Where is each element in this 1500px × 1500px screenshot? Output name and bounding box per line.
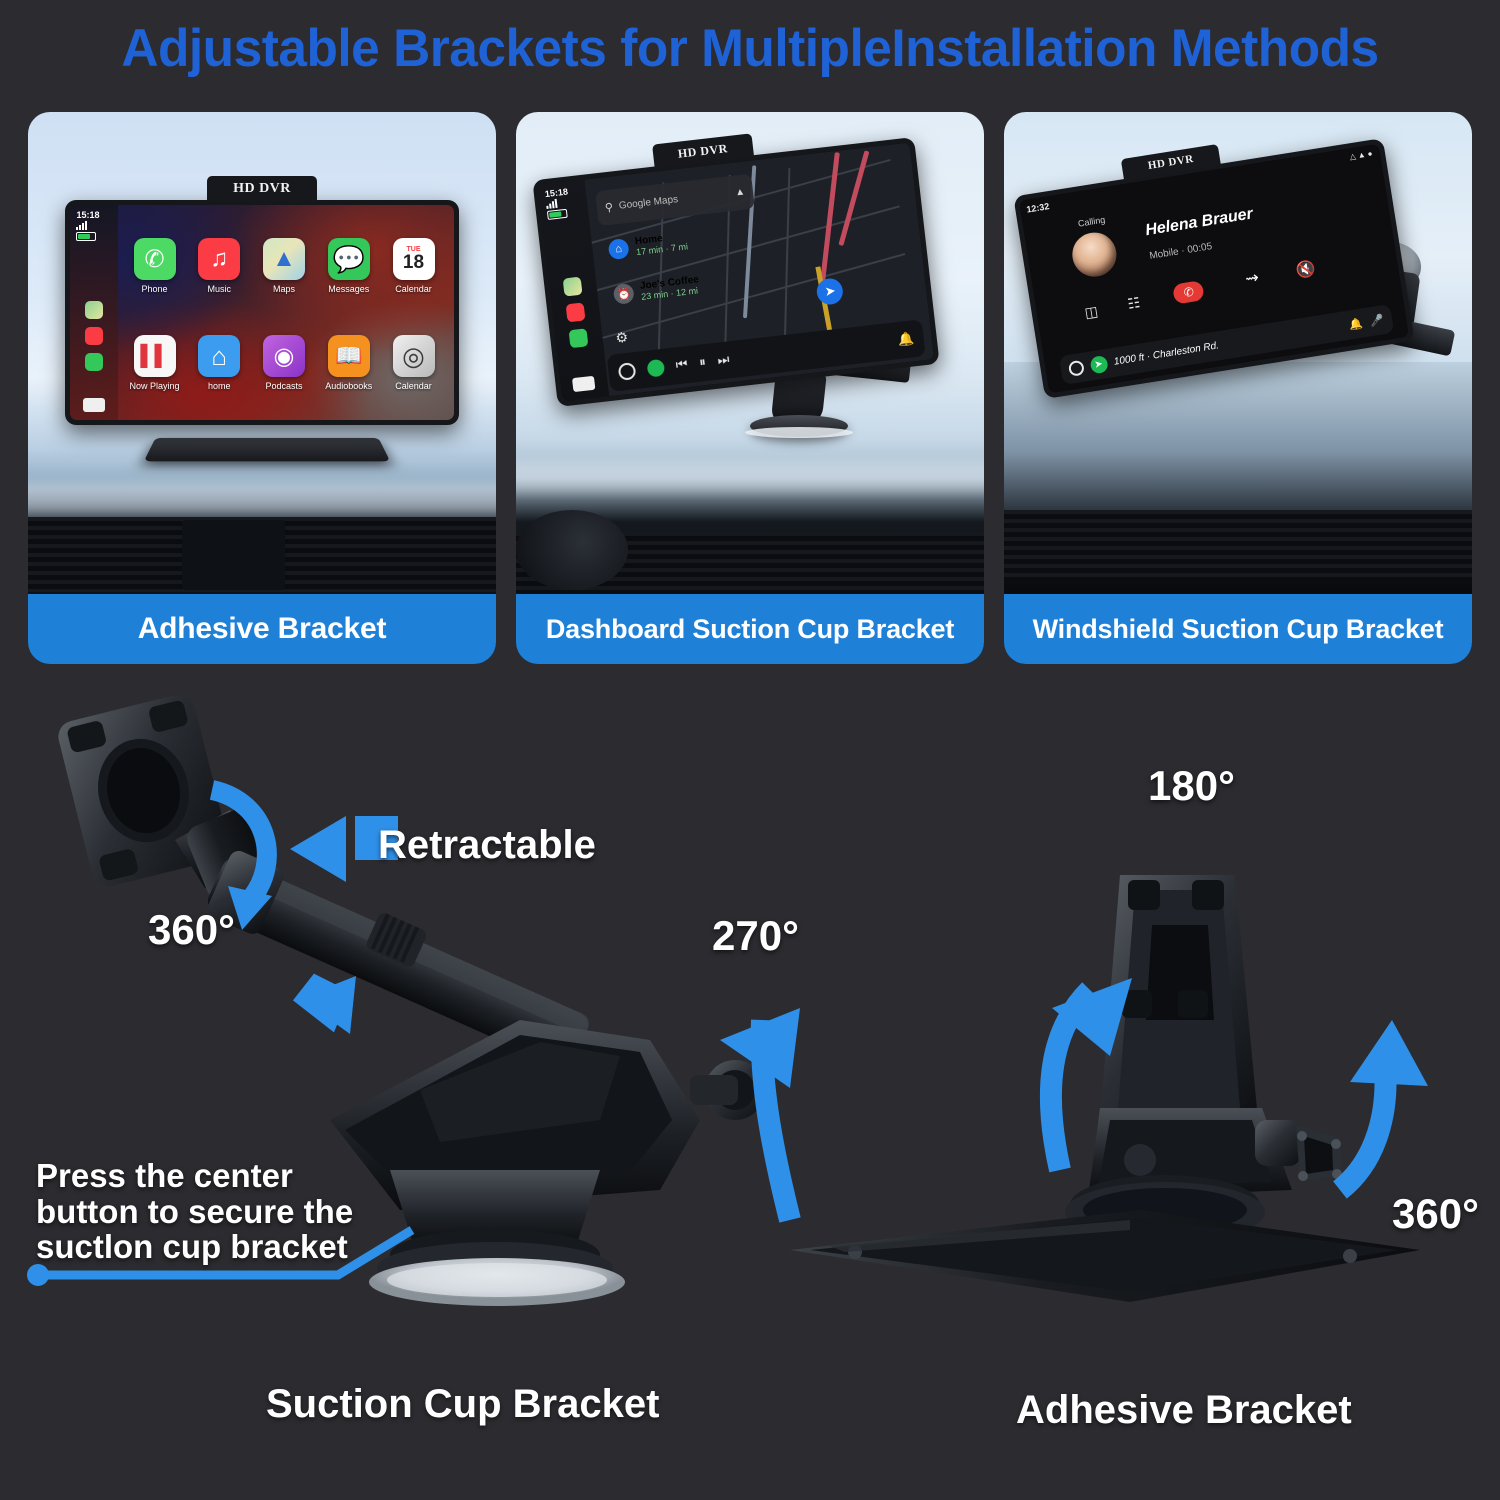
callout-line-3: suctlon cup bracket <box>36 1229 366 1265</box>
carplay-sidebar: 15:18 <box>70 205 118 420</box>
app-label: Messages <box>328 284 369 294</box>
panel-photo-dashboard: HD DVR ➤ <box>516 112 984 594</box>
next-icon[interactable]: ⏭ <box>717 351 730 368</box>
annotation-retractable: Retractable <box>378 823 596 868</box>
steering-wheel <box>516 510 628 590</box>
calendar-date: 18 <box>403 253 424 272</box>
carplay-app-grid: ✆ Phone ♫ Music ▲ Maps <box>122 218 446 412</box>
app-label: Podcasts <box>266 381 303 391</box>
diagram-graphics <box>0 690 1500 1500</box>
carplay-screen[interactable]: 15:18 ✆ Phone <box>70 205 453 420</box>
panel-adhesive-bracket: HD DVR 15:18 <box>28 112 496 664</box>
panel-photo-windshield: HD DVR △▲● 12:32 Calling Helena Brauer M… <box>1004 112 1472 594</box>
signal-icon <box>546 198 570 209</box>
messages-icon: 💬 <box>328 238 370 280</box>
panel-dashboard-suction-cup: HD DVR ➤ <box>516 112 984 664</box>
panel-caption-dashboard: Dashboard Suction Cup Bracket <box>516 594 984 664</box>
search-placeholder: Google Maps <box>618 194 678 212</box>
dash-highlight <box>516 462 984 492</box>
panel-caption-windshield: Windshield Suction Cup Bracket <box>1004 594 1472 664</box>
app-messages[interactable]: 💬 Messages <box>328 238 370 294</box>
calendar-icon: TUE 18 <box>393 238 435 280</box>
home-indicator-icon[interactable] <box>1068 360 1085 377</box>
sidebar-music-icon[interactable] <box>85 327 103 345</box>
sidebar-messages-icon[interactable] <box>569 328 589 348</box>
search-icon: ⚲ <box>604 201 613 215</box>
bell-icon[interactable]: 🔔 <box>897 330 915 348</box>
recent-clock-icon: ⏰ <box>613 283 635 305</box>
app-label: Now Playing <box>130 381 180 391</box>
battery-icon <box>76 232 96 241</box>
air-vent <box>1004 510 1472 582</box>
mic-icon[interactable]: 🎤 <box>1370 313 1386 328</box>
home-icon: ⌂ <box>198 335 240 377</box>
audiobooks-icon: 📖 <box>328 335 370 377</box>
annotation-neck-270: 270° <box>712 912 799 960</box>
adhesive-bracket-illustration <box>790 875 1420 1302</box>
installation-panels: HD DVR 15:18 <box>28 112 1472 664</box>
settings-icon: ◎ <box>393 335 435 377</box>
app-label: Calendar <box>395 381 432 391</box>
callout-line-2: button to secure the <box>36 1194 366 1230</box>
panel-windshield-suction-cup: HD DVR △▲● 12:32 Calling Helena Brauer M… <box>1004 112 1472 664</box>
annotation-head-360: 360° <box>148 906 235 954</box>
vent-center-console <box>182 520 285 590</box>
status-time: 15:18 <box>76 210 99 220</box>
now-playing-indicator-icon[interactable] <box>617 362 636 381</box>
label-adhesive-bracket: Adhesive Bracket <box>1016 1388 1352 1433</box>
sidebar-music-icon[interactable] <box>566 302 586 322</box>
app-maps[interactable]: ▲ Maps <box>263 238 305 294</box>
panel-photo-adhesive: HD DVR 15:18 <box>28 112 496 594</box>
signal-icon <box>76 222 99 230</box>
panel-caption-adhesive: Adhesive Bracket <box>28 594 496 664</box>
carplay-device: HD DVR 15:18 <box>65 200 458 425</box>
bell-icon[interactable]: 🔔 <box>1348 317 1364 332</box>
battery-icon <box>547 209 568 220</box>
callout-line-1: Press the center <box>36 1158 366 1194</box>
app-phone[interactable]: ✆ Phone <box>134 238 176 294</box>
now-playing-icon: ▌▌ <box>134 335 176 377</box>
app-calendar[interactable]: TUE 18 Calendar <box>393 238 435 294</box>
app-label: Calendar <box>395 284 432 294</box>
app-label: home <box>208 381 231 391</box>
app-now-playing[interactable]: ▌▌ Now Playing <box>130 335 180 391</box>
callout-secure-button: Press the center button to secure the su… <box>36 1158 366 1265</box>
sidebar-maps-icon[interactable] <box>563 277 583 297</box>
dash-highlight <box>28 484 496 514</box>
sidebar-list-icon[interactable] <box>83 398 105 412</box>
app-label: Maps <box>273 284 295 294</box>
hd-dvr-badge: HD DVR <box>207 176 317 202</box>
app-podcasts[interactable]: ◉ Podcasts <box>263 335 305 391</box>
chevron-up-icon[interactable]: ▲ <box>735 187 746 199</box>
app-label: Audiobooks <box>325 381 372 391</box>
annotation-tilt-180: 180° <box>1148 762 1235 810</box>
app-music[interactable]: ♫ Music <box>198 238 240 294</box>
previous-icon[interactable]: ⏮ <box>675 356 688 373</box>
page-title: Adjustable Brackets for MultipleInstalla… <box>23 18 1478 79</box>
status-cluster: 15:18 <box>76 210 99 241</box>
status-time: 15:18 <box>544 187 568 200</box>
phone-icon: ✆ <box>134 238 176 280</box>
maps-screen[interactable]: ➤ ⚲ Google Maps ▲ ⌂ Home 17 mi <box>538 143 934 402</box>
maps-icon: ▲ <box>263 238 305 280</box>
annotation-swivel-360: 360° <box>1392 1190 1479 1238</box>
bracket-diagram-section: 360° Retractable 270° Press the center b… <box>0 690 1500 1500</box>
podcasts-icon: ◉ <box>263 335 305 377</box>
app-audiobooks[interactable]: 📖 Audiobooks <box>325 335 372 391</box>
music-icon: ♫ <box>198 238 240 280</box>
pause-icon[interactable]: ⏸ <box>699 354 707 371</box>
gear-icon[interactable]: ⚙ <box>615 328 629 346</box>
mute-icon[interactable]: 🔇 <box>1295 259 1318 282</box>
sidebar-list-icon[interactable] <box>572 376 595 392</box>
spotify-icon[interactable] <box>646 358 665 377</box>
sidebar-messages-icon[interactable] <box>85 353 103 371</box>
adhesive-mount-plate <box>144 438 390 461</box>
status-cluster: 15:18 <box>544 187 570 220</box>
suction-cup-pad <box>745 427 853 438</box>
app-home[interactable]: ⌂ home <box>198 335 240 391</box>
label-suction-cup-bracket: Suction Cup Bracket <box>266 1382 659 1427</box>
app-label: Phone <box>142 284 168 294</box>
home-pin-icon: ⌂ <box>608 238 630 260</box>
sidebar-maps-icon[interactable] <box>85 301 103 319</box>
turn-right-icon: ➤ <box>1089 355 1108 374</box>
product-infographic: Adjustable Brackets for MultipleInstalla… <box>0 0 1500 1500</box>
app-label: Music <box>208 284 232 294</box>
carplay-device: HD DVR ➤ <box>532 137 939 407</box>
app-settings[interactable]: ◎ Calendar <box>393 335 435 391</box>
